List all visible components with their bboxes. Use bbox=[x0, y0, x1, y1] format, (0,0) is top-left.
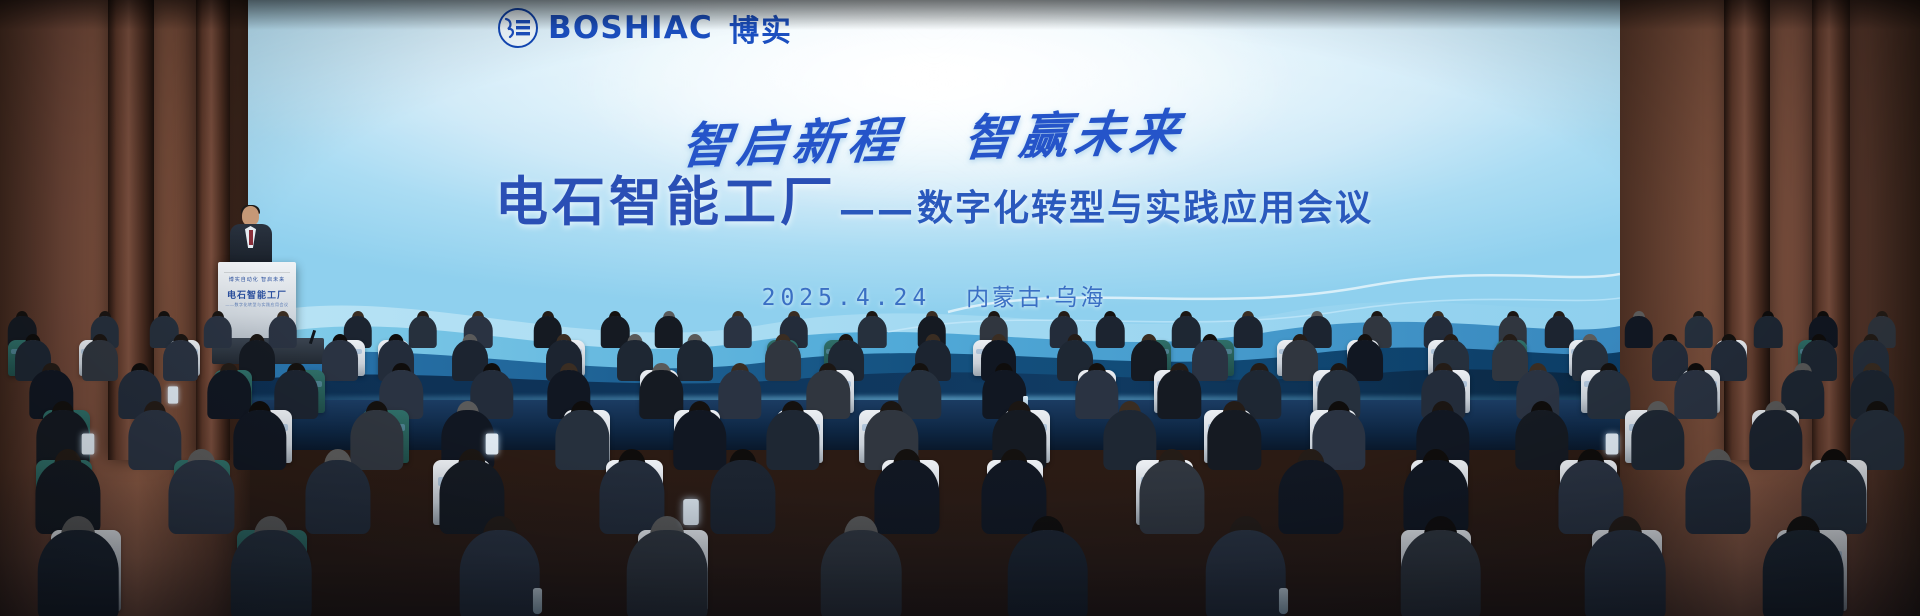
audience-shoulders bbox=[1625, 316, 1654, 348]
audience-member bbox=[1278, 429, 1343, 534]
audience-shoulders bbox=[1206, 530, 1287, 616]
smartphone bbox=[1605, 433, 1618, 454]
audience-shoulders bbox=[1140, 460, 1205, 534]
speaker-head bbox=[242, 206, 259, 226]
smartphone bbox=[82, 433, 95, 454]
audience-shoulders bbox=[38, 530, 119, 616]
audience-member bbox=[1585, 491, 1666, 616]
audience-shoulders bbox=[1585, 530, 1666, 616]
audience-shoulders bbox=[1007, 530, 1088, 616]
audience-member bbox=[1234, 302, 1263, 348]
smartphone bbox=[168, 386, 178, 403]
audience-member bbox=[1007, 491, 1088, 616]
audience-shoulders bbox=[231, 530, 312, 616]
audience-shoulders bbox=[1096, 316, 1125, 348]
audience-shoulders bbox=[1749, 410, 1802, 470]
audience-member bbox=[305, 429, 370, 534]
podium-sign-line-1: 博实自动化 智启未来 bbox=[218, 276, 296, 283]
audience-member bbox=[1754, 302, 1783, 348]
audience-member bbox=[1763, 491, 1844, 616]
audience-shoulders bbox=[723, 316, 752, 348]
smartphone bbox=[486, 433, 499, 454]
boshiac-logo: BOSHIAC 博实 bbox=[498, 6, 793, 50]
audience-shoulders bbox=[821, 530, 902, 616]
audience-member bbox=[1206, 491, 1287, 616]
audience-shoulders bbox=[204, 316, 233, 348]
audience-shoulders bbox=[1631, 410, 1684, 470]
audience-shoulders bbox=[1400, 530, 1481, 616]
audience-member bbox=[169, 429, 234, 534]
logo-latin-text: BOSHIAC bbox=[548, 10, 713, 46]
audience-shoulders bbox=[710, 460, 775, 534]
event-title-separator: —— bbox=[839, 190, 915, 236]
audience-shoulders bbox=[82, 340, 118, 381]
audience-shoulders bbox=[1763, 530, 1844, 616]
audience-shoulders bbox=[460, 530, 541, 616]
conference-photo-scene: BOSHIAC 博实 智启新程 智赢未来 电石智能工厂 —— 数字化转型与实践应… bbox=[0, 0, 1920, 616]
audience-member bbox=[1545, 302, 1574, 348]
event-title-subtitle: 数字化转型与实践应用会议 bbox=[917, 179, 1373, 236]
event-title-main: 电石智能工厂 bbox=[495, 160, 837, 236]
audience-member bbox=[1625, 302, 1654, 348]
audience-shoulders bbox=[169, 460, 234, 534]
audience-member bbox=[1400, 491, 1481, 616]
audience-member bbox=[1684, 302, 1713, 348]
audience-shoulders bbox=[233, 410, 286, 470]
audience-member bbox=[1096, 302, 1125, 348]
audience-member bbox=[163, 323, 199, 381]
audience-member bbox=[204, 302, 233, 348]
audience-member bbox=[82, 323, 118, 381]
audience-member bbox=[231, 491, 312, 616]
audience-member bbox=[233, 384, 286, 470]
audience-area bbox=[0, 286, 1920, 616]
audience-shoulders bbox=[765, 340, 801, 381]
audience-shoulders bbox=[1208, 410, 1261, 470]
audience-shoulders bbox=[1234, 316, 1263, 348]
audience-member bbox=[1631, 384, 1684, 470]
smartphone bbox=[683, 499, 699, 525]
audience-shoulders bbox=[1587, 370, 1630, 419]
audience-member bbox=[821, 491, 902, 616]
audience-member bbox=[1158, 349, 1201, 419]
audience-member bbox=[322, 323, 358, 381]
audience-member bbox=[1685, 429, 1750, 534]
audience-member bbox=[765, 323, 801, 381]
logo-chinese-text: 博实 bbox=[729, 6, 793, 50]
audience-member bbox=[1587, 349, 1630, 419]
water-bottle bbox=[1279, 588, 1288, 614]
audience-shoulders bbox=[1278, 460, 1343, 534]
audience-member bbox=[460, 491, 541, 616]
slogan-part-2: 智赢未来 bbox=[961, 103, 1188, 167]
audience-shoulders bbox=[1684, 316, 1713, 348]
audience-member bbox=[38, 491, 119, 616]
speaker-figure bbox=[228, 206, 274, 270]
audience-shoulders bbox=[1754, 316, 1783, 348]
event-title: 电石智能工厂 —— 数字化转型与实践应用会议 bbox=[248, 160, 1620, 236]
audience-shoulders bbox=[163, 340, 199, 381]
audience-member bbox=[1282, 323, 1318, 381]
audience-member bbox=[710, 429, 775, 534]
audience-member bbox=[1208, 384, 1261, 470]
audience-shoulders bbox=[322, 340, 358, 381]
audience-member bbox=[723, 302, 752, 348]
speaker-tie bbox=[249, 230, 253, 245]
audience-shoulders bbox=[1158, 370, 1201, 419]
audience-shoulders bbox=[627, 530, 708, 616]
audience-member bbox=[1749, 384, 1802, 470]
audience-shoulders bbox=[305, 460, 370, 534]
audience-member bbox=[1140, 429, 1205, 534]
boshiac-circular-logo-icon bbox=[498, 8, 538, 48]
audience-shoulders bbox=[1685, 460, 1750, 534]
water-bottle bbox=[533, 588, 542, 614]
podium-divider bbox=[224, 272, 290, 273]
